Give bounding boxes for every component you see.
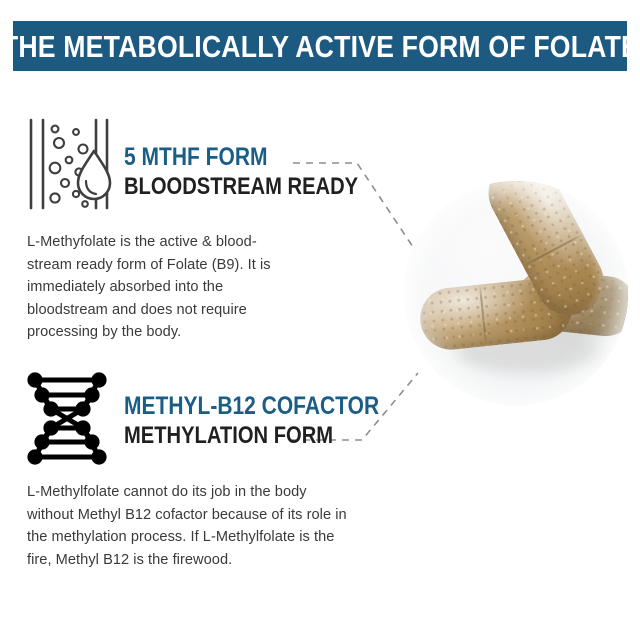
section-2-body-text: L-Methylfolate cannot do its job in the … (27, 481, 357, 571)
section-2-heading: METHYL-B12 COFACTOR (124, 394, 379, 420)
section-1-body-text: L-Methyfolate is the active & blood-stre… (27, 231, 293, 344)
section-1-headings: 5 MTHF FORM BLOODSTREAM READY (124, 145, 403, 199)
header-banner: THE METABOLICALLY ACTIVE FORM OF FOLATE (13, 21, 627, 71)
page-title: THE METABOLICALLY ACTIVE FORM OF FOLATE (1, 31, 638, 62)
section-2-headings: METHYL-B12 COFACTOR METHYLATION FORM (124, 394, 428, 448)
section-1-subheading: BLOODSTREAM READY (124, 174, 358, 199)
section-2-subheading: METHYLATION FORM (124, 423, 379, 448)
section-1-heading: 5 MTHF FORM (124, 145, 358, 171)
photo-edge-vignette (404, 181, 628, 405)
blood-vessel-droplet-icon (26, 118, 112, 210)
dna-helix-icon (24, 371, 110, 465)
product-image-capsules (404, 181, 628, 405)
